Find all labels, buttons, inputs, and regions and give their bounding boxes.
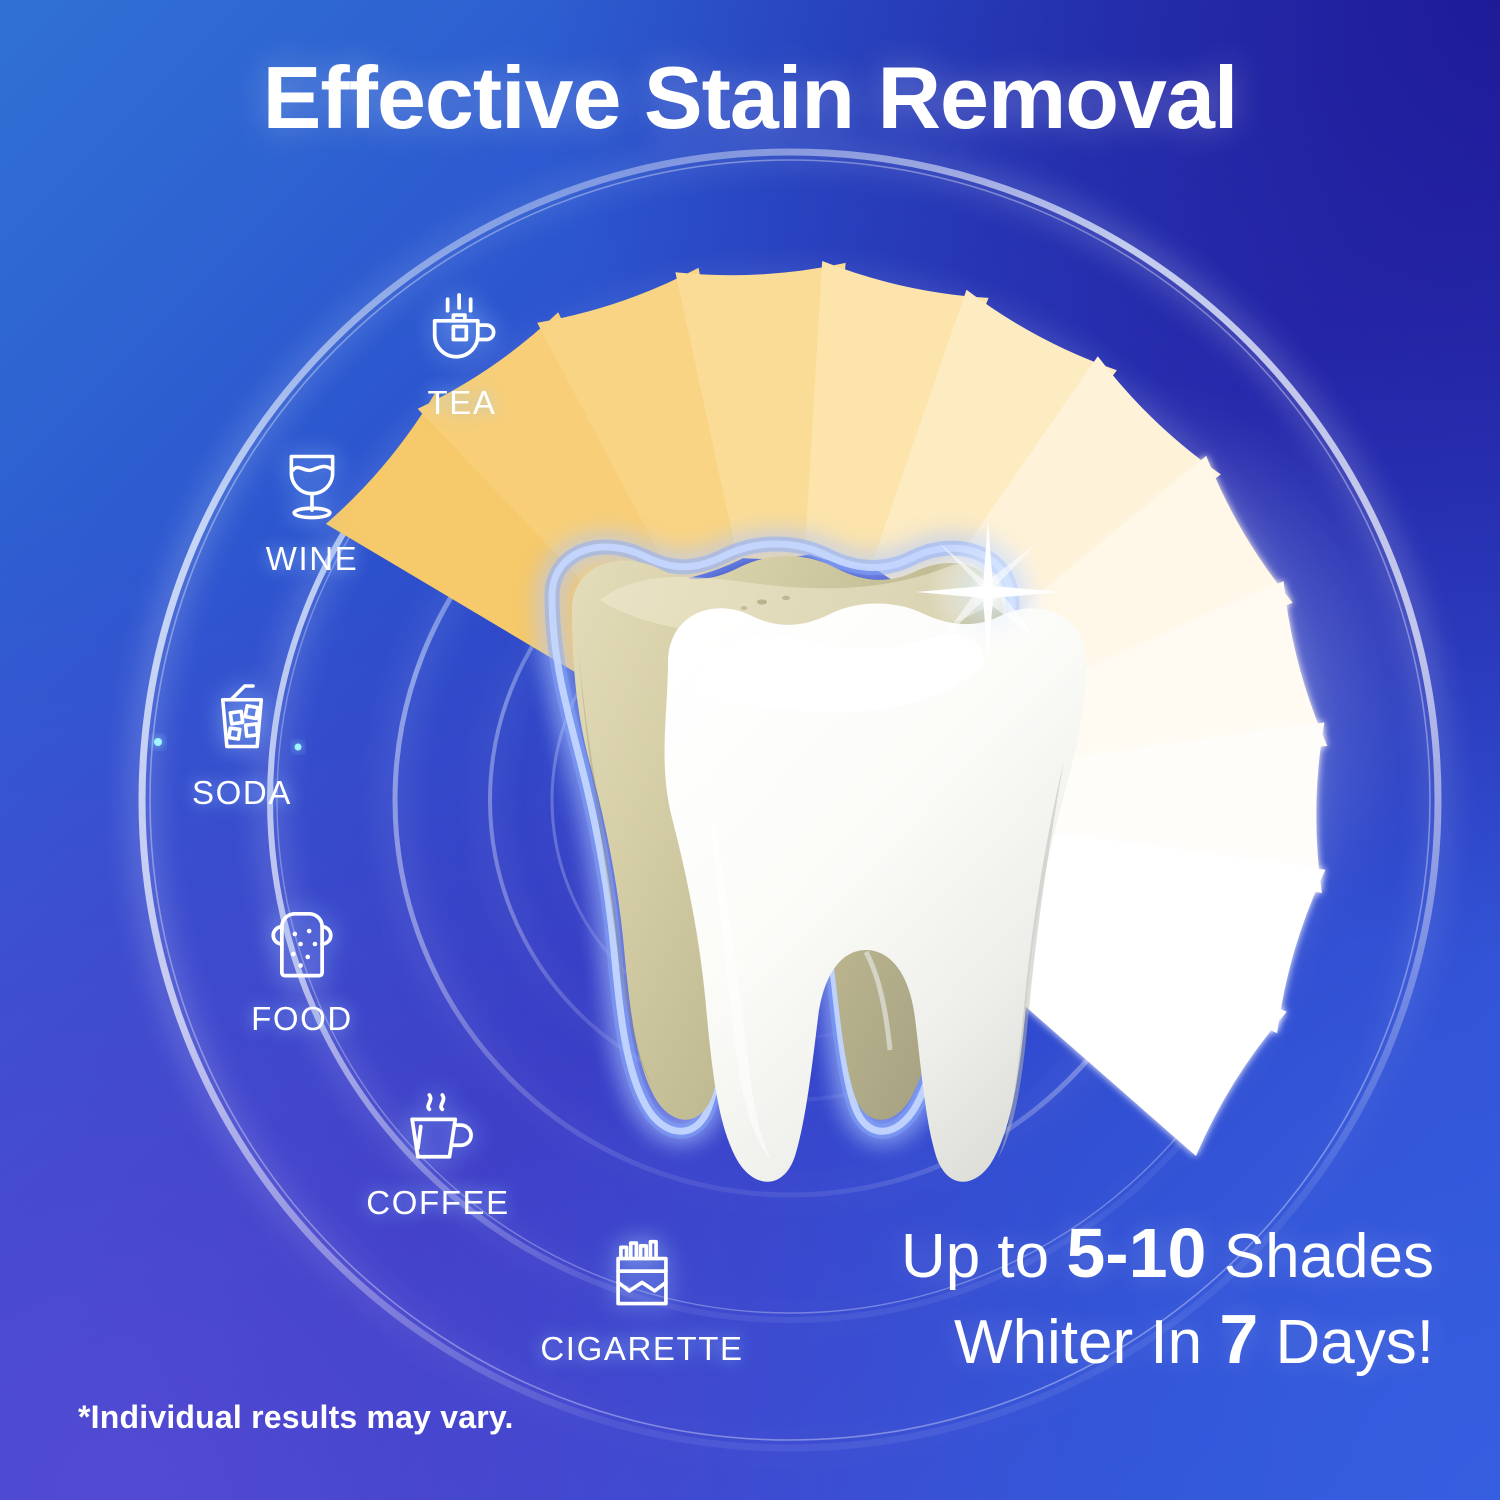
cigarette-pack-icon xyxy=(532,1228,752,1324)
stain-item-tea: TEA xyxy=(372,282,552,422)
page-title: Effective Stain Removal xyxy=(0,54,1500,142)
claim-line2-suffix: Days! xyxy=(1258,1308,1434,1377)
claim-line2-prefix: Whiter In xyxy=(954,1308,1219,1377)
claim-text: Up to 5-10 Shades Whiter In 7 Days! xyxy=(901,1211,1434,1382)
product-marketing-banner: Effective Stain Removal TEA WINE xyxy=(0,0,1500,1500)
claim-line1-emphasis: 5-10 xyxy=(1066,1214,1206,1292)
stain-label-wine: WINE xyxy=(222,540,402,578)
stain-label-food: FOOD xyxy=(212,1000,392,1038)
stain-label-coffee: COFFEE xyxy=(348,1184,528,1222)
wine-glass-icon xyxy=(222,438,402,534)
stain-item-cigarette: CIGARETTE xyxy=(532,1228,752,1368)
coffee-cup-icon xyxy=(348,1082,528,1178)
claim-line-1: Up to 5-10 Shades xyxy=(901,1211,1434,1296)
disclaimer-text: *Individual results may vary. xyxy=(78,1399,514,1436)
stain-label-soda: SODA xyxy=(152,774,332,812)
stain-item-soda: SODA xyxy=(152,672,332,812)
claim-line1-suffix: Shades xyxy=(1206,1222,1434,1291)
stain-label-tea: TEA xyxy=(372,384,552,422)
stain-item-food: FOOD xyxy=(212,898,392,1038)
claim-line-2: Whiter In 7 Days! xyxy=(901,1297,1434,1382)
stain-item-wine: WINE xyxy=(222,438,402,578)
bread-slice-icon xyxy=(212,898,392,994)
soda-glass-icon xyxy=(152,672,332,768)
tea-cup-icon xyxy=(372,282,552,378)
stain-item-coffee: COFFEE xyxy=(348,1082,528,1222)
claim-line1-prefix: Up to xyxy=(901,1222,1066,1291)
stain-label-cigarette: CIGARETTE xyxy=(532,1330,752,1368)
claim-line2-emphasis: 7 xyxy=(1219,1300,1258,1378)
